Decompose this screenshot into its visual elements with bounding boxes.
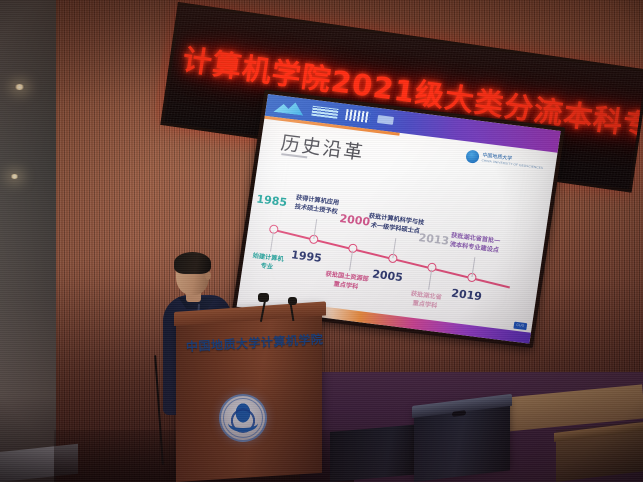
left-wall-sheen <box>0 0 56 482</box>
wall-downlight <box>14 84 25 90</box>
microphone-head-secondary-icon <box>288 297 297 305</box>
timeline-node <box>269 224 279 234</box>
stripe-graphic-icon <box>345 109 370 123</box>
slide-title: 历史沿革 <box>279 128 366 165</box>
timeline-connector <box>349 251 353 271</box>
presenter-hair <box>174 252 211 274</box>
microphone-head-icon <box>258 293 269 302</box>
university-mark-icon <box>465 149 480 163</box>
timeline-node <box>348 244 358 254</box>
timeline-node <box>427 263 437 273</box>
timeline-label: 获批湖北省重点学科 <box>390 289 460 315</box>
bar-graphic-icon <box>311 106 338 119</box>
university-logo: 中国地质大学 CHINA UNIVERSITY OF GEOSCIENCES <box>465 149 544 172</box>
timeline-connector <box>270 232 274 252</box>
timeline-connector <box>428 270 432 290</box>
emblem-swoosh-icon <box>228 414 258 432</box>
lecture-hall-photo: 计算机学院2021级大类分流本科专业介绍会 历史沿革 中国地质大学 CHINA … <box>0 0 643 482</box>
podium-university-emblem <box>219 394 267 442</box>
timeline-label: 获批湖北省首批一流本科专业建设点 <box>440 231 510 257</box>
mountain-icon <box>273 100 305 116</box>
block-graphic-icon <box>377 115 394 125</box>
timeline-label: 获批国土资源部重点学科 <box>311 269 381 295</box>
slide-badge: CUG <box>513 322 527 331</box>
wall-downlight <box>10 174 19 179</box>
stage-speaker-left <box>330 424 426 482</box>
